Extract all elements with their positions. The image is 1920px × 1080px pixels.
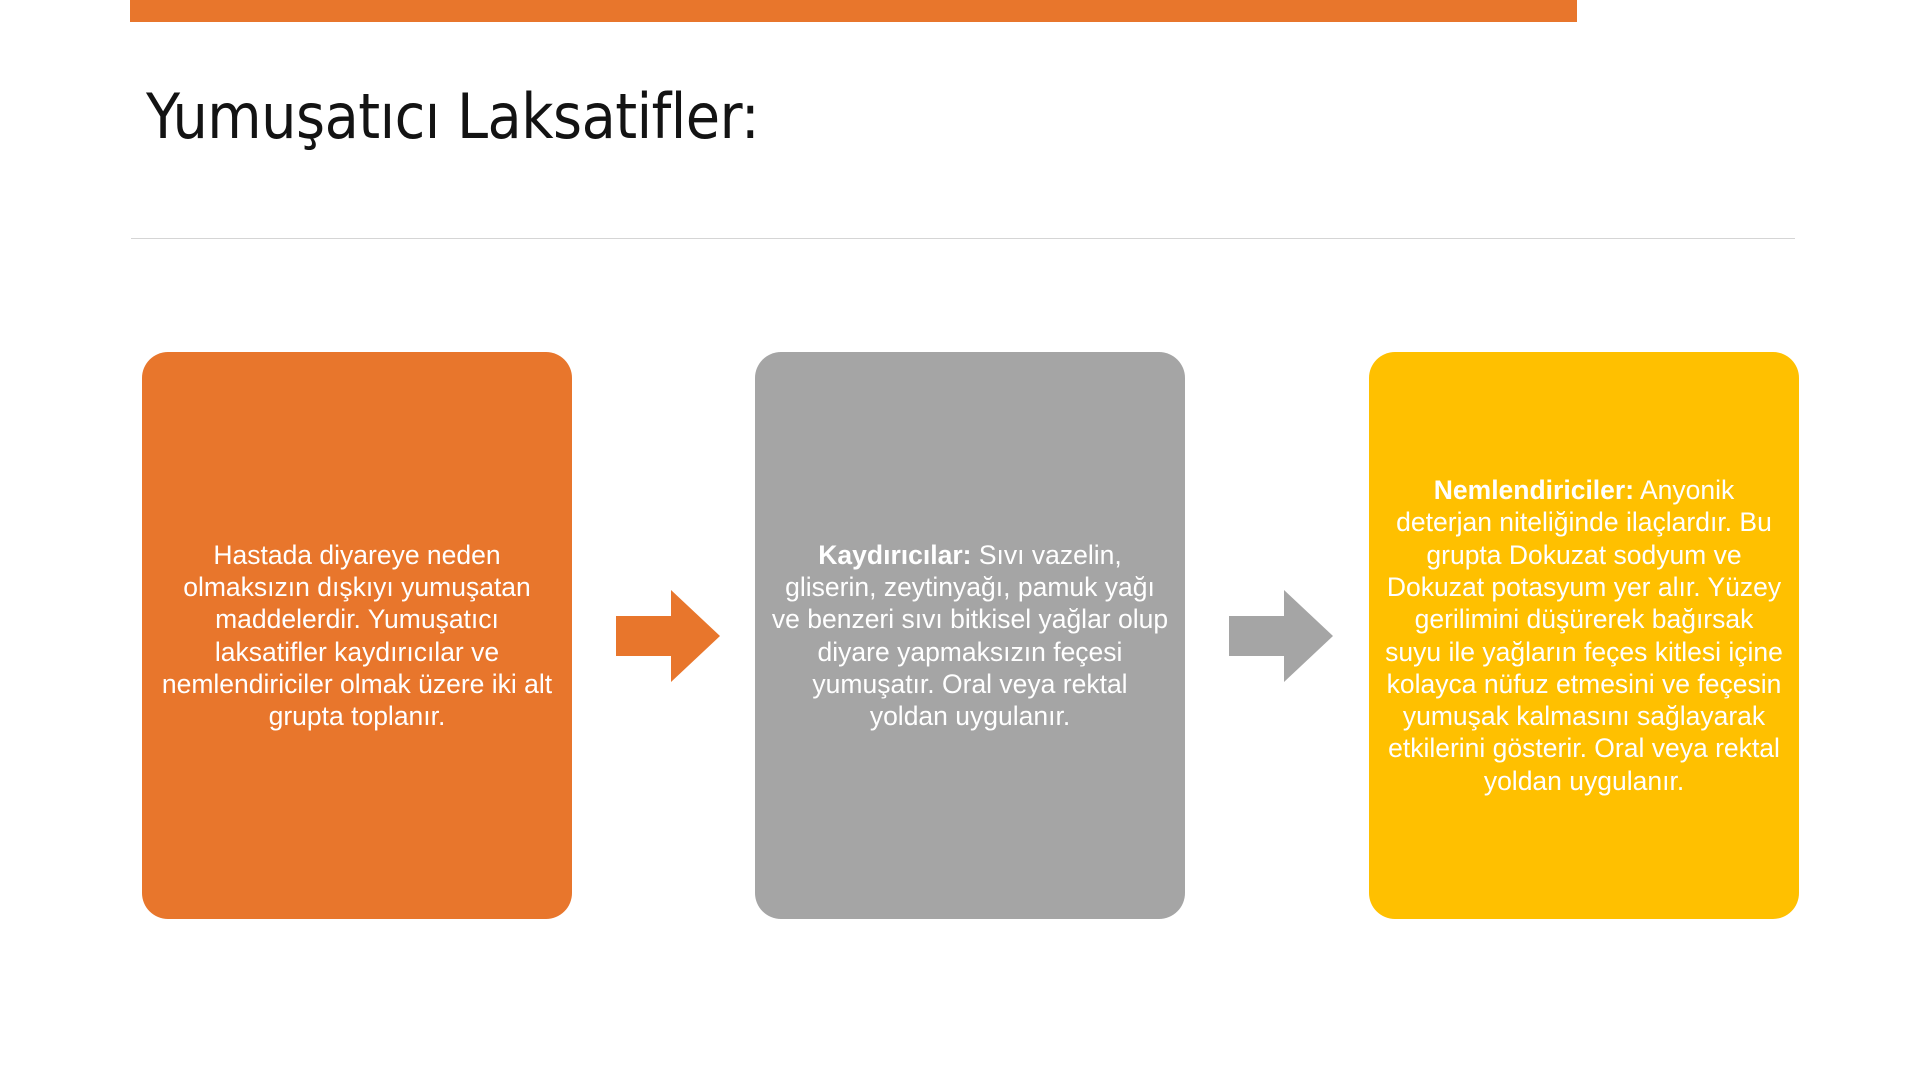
right-arrow-icon-1	[616, 590, 720, 682]
flow-node-1-body: Hastada diyareye neden olmaksızın dışkıy…	[162, 540, 552, 732]
flow-node-3-text: Nemlendiriciler: Anyonik deterjan niteli…	[1369, 474, 1799, 797]
flow-node-2[interactable]: Kaydırıcılar: Sıvı vazelin, gliserin, ze…	[755, 352, 1185, 919]
process-flow-diagram: Hastada diyareye neden olmaksızın dışkıy…	[0, 0, 1920, 1080]
flow-node-3[interactable]: Nemlendiriciler: Anyonik deterjan niteli…	[1369, 352, 1799, 919]
right-arrow-icon-2	[1229, 590, 1333, 682]
flow-node-2-text: Kaydırıcılar: Sıvı vazelin, gliserin, ze…	[755, 539, 1185, 733]
flow-node-2-label: Kaydırıcılar:	[818, 540, 971, 570]
flow-node-3-label: Nemlendiriciler:	[1434, 475, 1634, 505]
flow-node-1[interactable]: Hastada diyareye neden olmaksızın dışkıy…	[142, 352, 572, 919]
flow-node-1-text: Hastada diyareye neden olmaksızın dışkıy…	[142, 539, 572, 733]
flow-node-3-body: Anyonik deterjan niteliğinde ilaçlardır.…	[1385, 475, 1783, 796]
